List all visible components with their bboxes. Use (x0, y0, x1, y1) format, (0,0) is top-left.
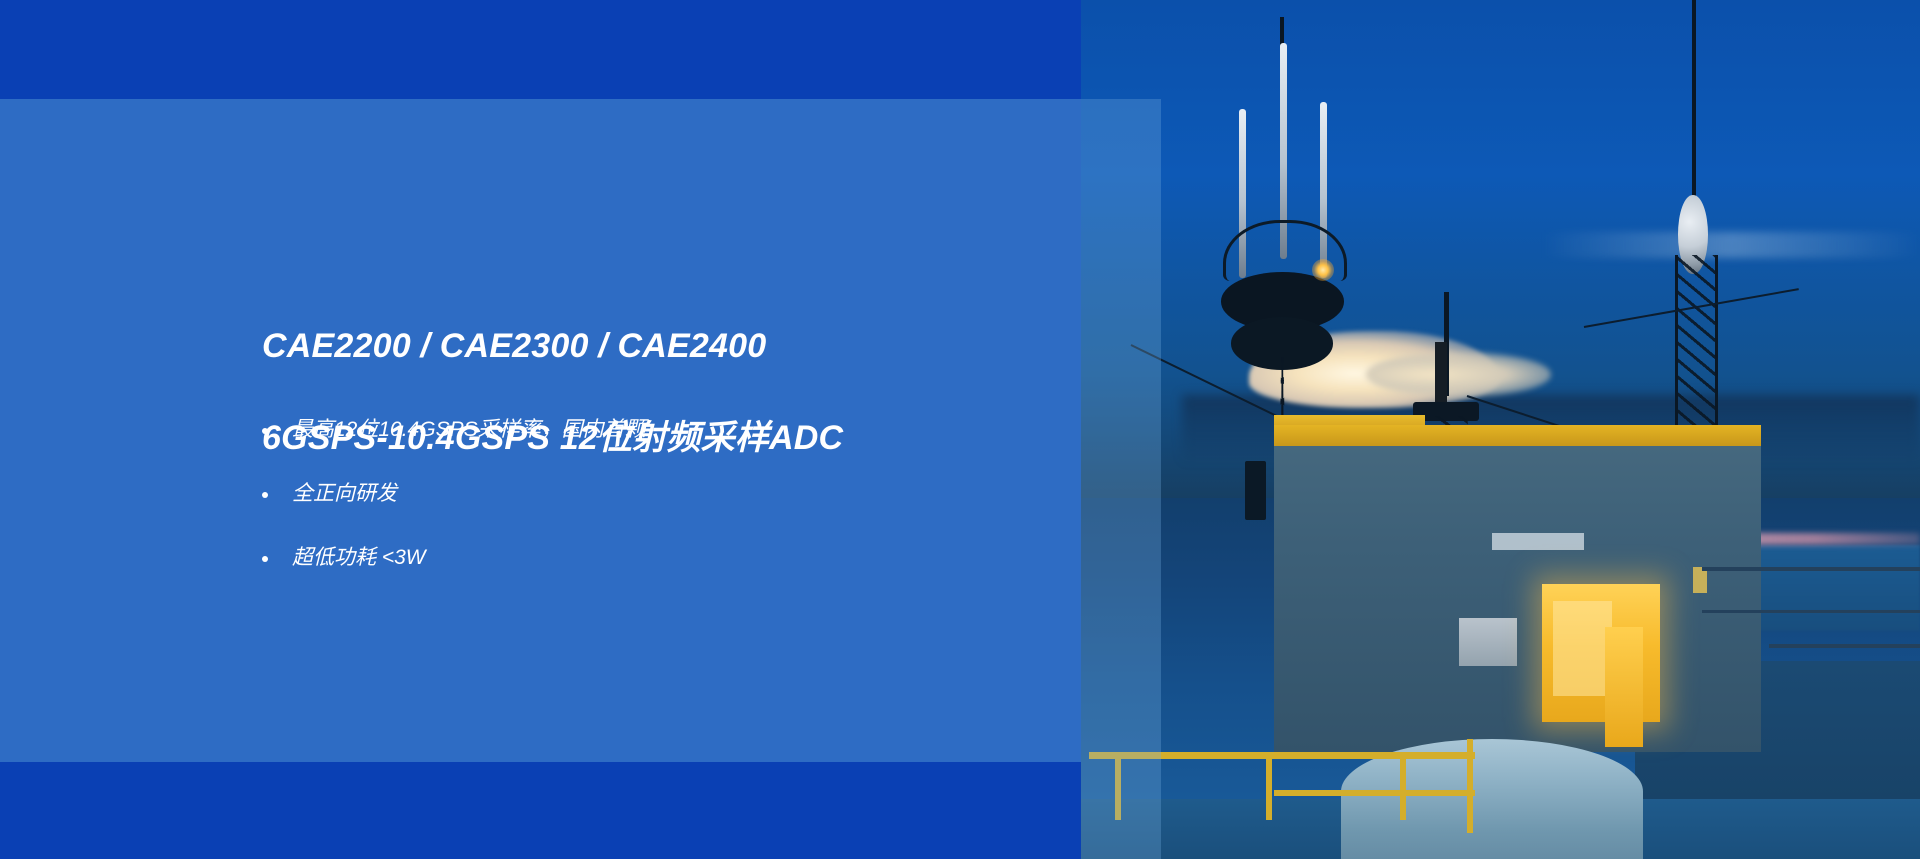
tower-equipment-box-1 (1245, 461, 1266, 520)
yellow-handrail-top (1089, 752, 1475, 759)
cloud-wisp (1542, 232, 1920, 258)
dish-mast-pole (1692, 0, 1696, 213)
top-color-band (0, 0, 1081, 99)
yellow-handrail-mid (1274, 790, 1475, 796)
microwave-dish-mast (1668, 0, 1718, 464)
steel-railing-2 (1702, 610, 1920, 613)
presentation-slide: CAE2200 / CAE2300 / CAE2400 6GSPS-10.4GS… (0, 0, 1920, 859)
slide-title-line-1: CAE2200 / CAE2300 / CAE2400 (262, 323, 982, 369)
building-label-plate (1492, 533, 1584, 550)
building-roof-trim (1274, 425, 1761, 446)
handrail-post-2 (1266, 752, 1272, 821)
bullet-item: 超低功耗 <3W (258, 545, 1018, 571)
window-inner-pane (1553, 601, 1612, 695)
bottom-color-band (0, 762, 1081, 859)
steel-railing-1 (1702, 567, 1920, 571)
building-control-panel (1459, 618, 1518, 665)
lit-doorway (1605, 627, 1643, 747)
feature-bullet-list: 最高12位10.4GSPS采样率，国内首颗 全正向研发 超低功耗 <3W (258, 417, 1018, 609)
bullet-item: 最高12位10.4GSPS采样率，国内首颗 (258, 417, 1018, 443)
handrail-post-3 (1400, 752, 1406, 821)
background-photo (1081, 0, 1920, 859)
handrail-post-4 (1467, 739, 1473, 833)
bullet-item: 全正向研发 (258, 481, 1018, 507)
handrail-post-1 (1115, 752, 1121, 821)
equipment-building (1274, 434, 1761, 752)
steel-railing-3 (1769, 644, 1920, 648)
tower-warning-lamp (1312, 259, 1334, 281)
